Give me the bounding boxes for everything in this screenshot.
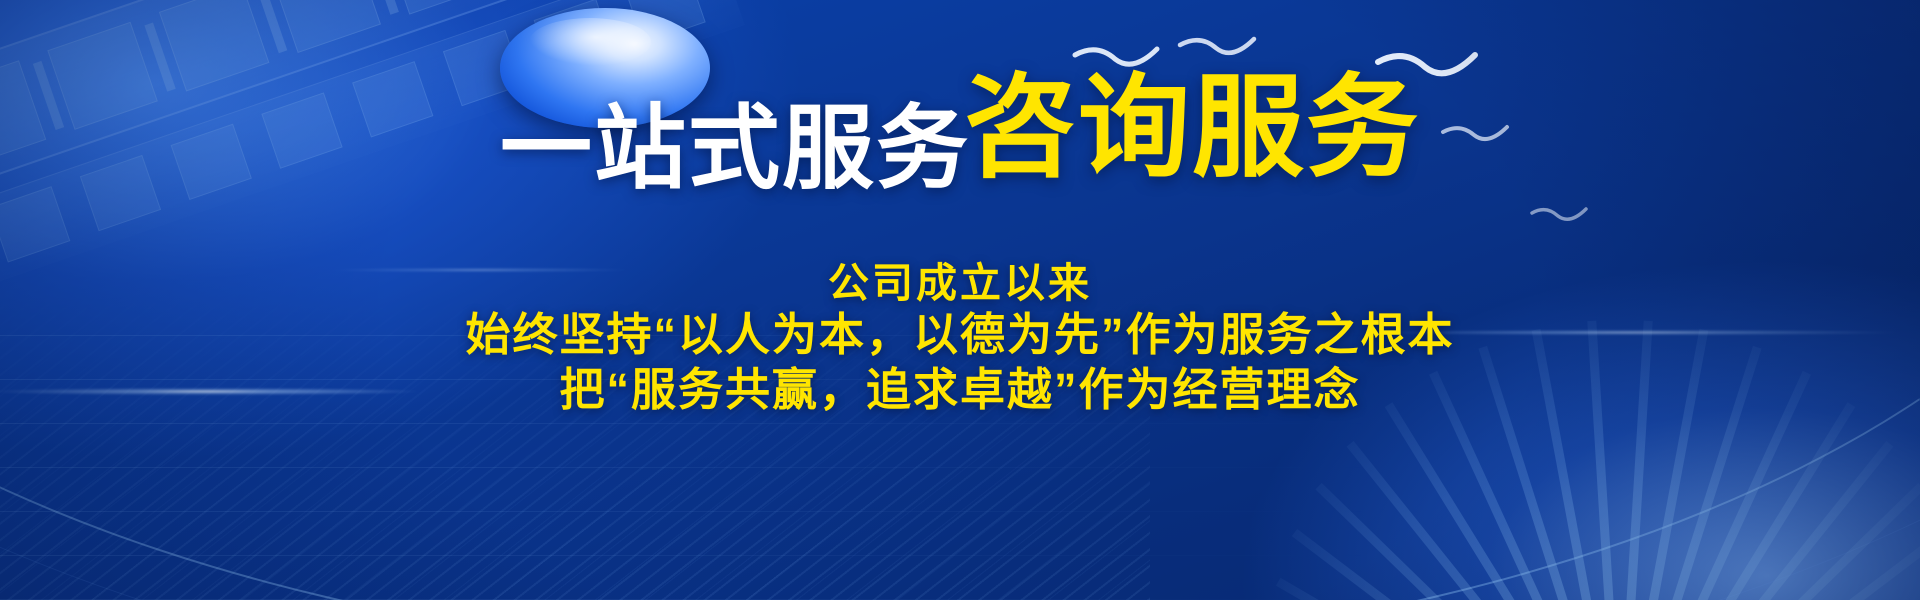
- banner-body-copy: 公司成立以来 始终坚持“以人为本，以德为先”作为服务之根本 把“服务共赢，追求卓…: [0, 258, 1920, 418]
- body-line-3: 把“服务共赢，追求卓越”作为经营理念: [0, 363, 1920, 418]
- headline-accent-text: 咨询服务: [964, 65, 1420, 190]
- filmstrip-cell: [270, 0, 381, 53]
- sunburst-ray: [1616, 403, 1855, 600]
- filmstrip-cell: [159, 0, 270, 91]
- promo-banner: 一站式服务咨询服务 公司成立以来 始终坚持“以人为本，以德为先”作为服务之根本 …: [0, 0, 1920, 600]
- body-line-2: 始终坚持“以人为本，以德为先”作为服务之根本: [0, 308, 1920, 363]
- headline-primary-text: 一站式服务: [500, 98, 970, 200]
- body-line-1: 公司成立以来: [0, 258, 1920, 308]
- banner-headline: 一站式服务咨询服务: [0, 86, 1920, 198]
